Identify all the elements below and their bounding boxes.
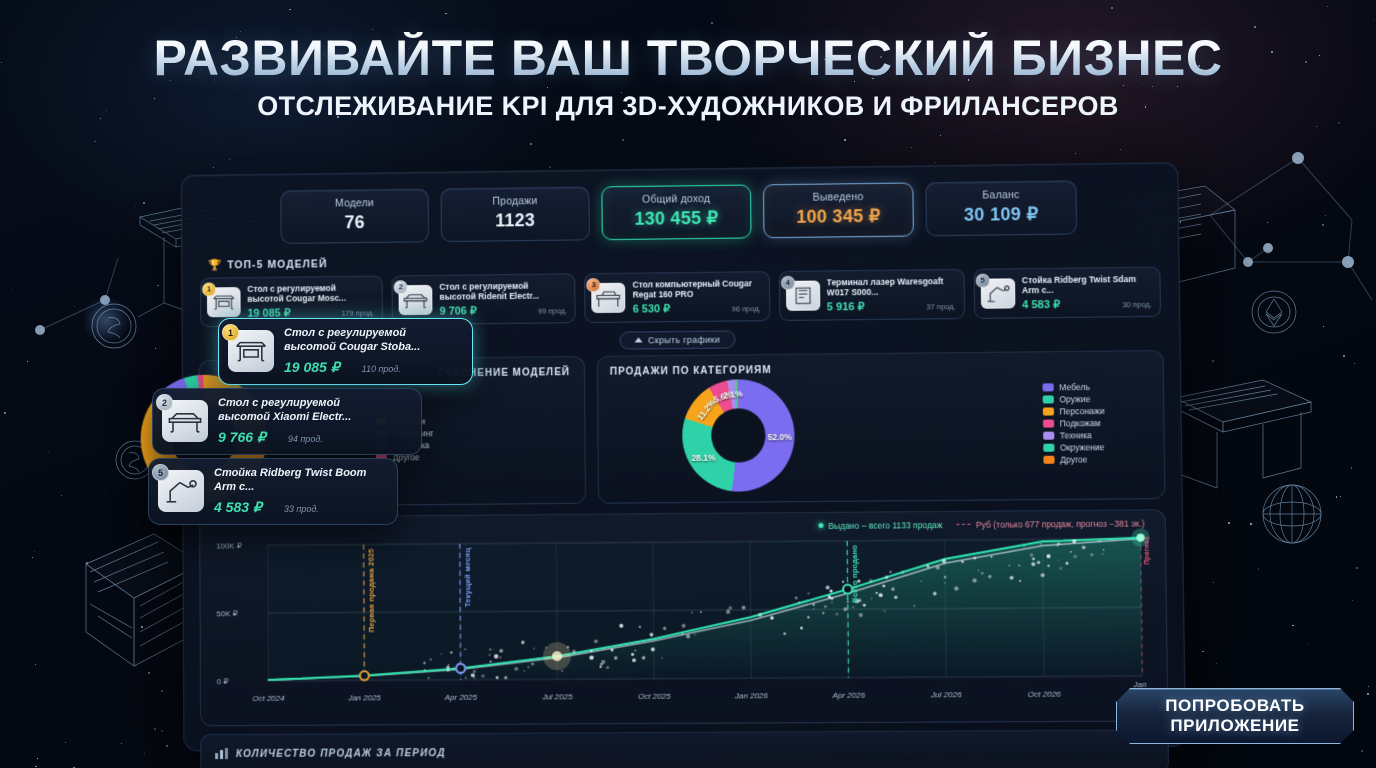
kpi-label: Выведено — [770, 191, 906, 205]
wireframe-ethereum-coin-icon — [1248, 286, 1300, 338]
model-thumbnail: 4 — [786, 280, 820, 310]
model-name: Стойка Ridberg Twist Sdam Arm с... — [1022, 274, 1152, 296]
kpi-value: 76 — [287, 212, 422, 234]
rank-badge: 1 — [202, 282, 216, 296]
model-thumbnail: 1 — [228, 330, 274, 372]
legend-label: Техника — [1060, 430, 1092, 440]
legend-swatch — [1042, 419, 1053, 427]
legend-label: Мебель — [1059, 382, 1090, 392]
cta-line-2: ПРИЛОЖЕНИЕ — [1165, 716, 1305, 736]
hide-charts-label: Скрыть графики — [648, 334, 720, 345]
bar-chart-icon — [215, 746, 228, 764]
legend-label: Другое — [1060, 454, 1087, 464]
top5-model-card[interactable]: 3Стол компьютерный Cougar Regat 160 PRO6… — [585, 271, 770, 323]
x-axis-tick: Oct 2024 — [252, 694, 284, 703]
legend-item[interactable]: Оружие — [1042, 394, 1104, 405]
model-sales-count: 99 прод. — [538, 306, 567, 315]
page-title: РАЗВИВАЙТЕ ВАШ ТВОРЧЕСКИЙ БИЗНЕС — [0, 32, 1376, 85]
model-thumbnail: 5 — [158, 470, 204, 512]
model-sales-count: 96 прод. — [732, 304, 761, 313]
kpi-card-4[interactable]: Баланс30 109 ₽ — [925, 180, 1077, 236]
top5-model-card[interactable]: 5Стойка Ridberg Twist Sdam Arm с...4 583… — [973, 267, 1161, 319]
y-axis-tick: 0 ₽ — [217, 676, 229, 685]
legend-label: Оружие — [1059, 394, 1090, 404]
model-price: 9 706 ₽ — [440, 304, 477, 317]
model-price: 4 583 ₽ — [1022, 298, 1060, 311]
period-sales-bar[interactable]: КОЛИЧЕСТВО ПРОДАЖ ЗА ПЕРИОД — [200, 729, 1169, 768]
trophy-icon: 🏆 — [208, 259, 222, 272]
hide-charts-button[interactable]: Скрыть графики — [620, 330, 735, 349]
kpi-value: 100 345 ₽ — [770, 206, 907, 229]
model-price: 6 530 ₽ — [633, 302, 671, 315]
model-price: 9 766 ₽ — [218, 429, 266, 446]
model-price: 5 916 ₽ — [827, 300, 865, 313]
legend-swatch — [1042, 407, 1053, 415]
model-thumbnail: 2 — [399, 285, 433, 315]
legend-swatch — [1043, 443, 1054, 451]
legend-label: Подкожам — [1060, 418, 1101, 428]
kpi-card-0[interactable]: Модели76 — [280, 189, 429, 244]
model-name: Терминал лазер Waresgoaft W017 S000... — [827, 276, 956, 298]
legend-swatch — [1043, 431, 1054, 439]
kpi-label: Модели — [287, 197, 421, 211]
rank-badge: 5 — [975, 273, 989, 287]
category-sales-donut[interactable]: 52.0%28.1%11.2%5.6%2.1% — [682, 379, 795, 492]
model-thumbnail: 2 — [162, 400, 208, 442]
model-sales-count: 33 прод. — [284, 504, 319, 514]
headline-block: РАЗВИВАЙТЕ ВАШ ТВОРЧЕСКИЙ БИЗНЕС ОТСЛЕЖИ… — [0, 32, 1376, 122]
rank-badge: 4 — [780, 276, 794, 290]
kpi-card-3[interactable]: Выведено100 345 ₽ — [763, 182, 914, 238]
model-price: 4 583 ₽ — [214, 499, 262, 516]
x-axis-tick: Jul 2026 — [931, 690, 962, 699]
model-thumbnail: 3 — [592, 283, 626, 313]
chart-annotation-label: Всего продано — [850, 545, 860, 603]
legend-label: Персонажи — [1059, 406, 1104, 416]
top5-heading: ТОП-5 МОДЕЛЕЙ — [227, 258, 327, 271]
kpi-label: Общий доход — [608, 193, 744, 207]
chart-annotation-label: Прогноз — [1144, 536, 1151, 564]
model-name: Стол компьютерный Cougar Regat 160 PRO — [632, 278, 760, 300]
donut-slice-label: 52.0% — [768, 432, 792, 442]
legend-swatch — [1042, 383, 1053, 391]
model-sales-count: 179 прод. — [341, 308, 374, 317]
legend-item[interactable]: Окружение — [1043, 442, 1105, 453]
line-chart-svg — [210, 528, 1157, 707]
x-axis-tick: Oct 2026 — [1028, 689, 1061, 698]
category-sales-legend: МебельОружиеПерсонажиПодкожамТехникаОкру… — [1042, 382, 1105, 465]
floating-model-card[interactable]: 2Стол с регулируемой высотой Xiaomi Elec… — [152, 388, 422, 455]
model-name: Стол с регулируемой высотой Cougar Mosc.… — [247, 283, 374, 305]
model-name: Стол с регулируемой высотой Ridenit Elec… — [439, 280, 567, 302]
legend-item[interactable]: Подкожам — [1042, 418, 1104, 429]
model-name: Стол с регулируемой высотой Cougar Stoba… — [284, 327, 454, 355]
wireframe-sphere-icon — [1258, 480, 1326, 548]
kpi-label: Продажи — [448, 195, 583, 209]
bar-chart-glyph — [215, 748, 228, 759]
y-axis-tick: 100K ₽ — [216, 541, 242, 550]
sales-line-chart-panel: Выдано – всего 1133 продажРуб (только 67… — [199, 509, 1168, 726]
legend-swatch — [1043, 455, 1054, 463]
legend-item[interactable]: Мебель — [1042, 382, 1104, 393]
x-axis-tick: Apr 2026 — [832, 690, 865, 699]
period-sales-label: КОЛИЧЕСТВО ПРОДАЖ ЗА ПЕРИОД — [236, 748, 446, 760]
screenshot-root: РАЗВИВАЙТЕ ВАШ ТВОРЧЕСКИЙ БИЗНЕС ОТСЛЕЖИ… — [0, 0, 1376, 768]
donut-slice-label: 28.1% — [691, 452, 715, 462]
kpi-row: Модели76Продажи1123Общий доход130 455 ₽В… — [198, 175, 1162, 245]
legend-item[interactable]: Персонажи — [1042, 406, 1104, 417]
model-sales-count: 30 прод. — [1122, 300, 1152, 309]
x-axis-tick: Jan 2026 — [735, 691, 768, 700]
legend-item[interactable]: Техника — [1043, 430, 1105, 441]
legend-dot — [818, 523, 823, 528]
model-name: Стол с регулируемой высотой Xiaomi Elect… — [218, 397, 388, 425]
top5-model-card[interactable]: 4Терминал лазер Waresgoaft W017 S000...5… — [778, 269, 964, 321]
donut-slice-label: 2.1% — [722, 388, 743, 401]
chart-annotation-label: Текущий месяц — [463, 547, 472, 606]
category-sales-panel: ПРОДАЖИ ПО КАТЕГОРИЯМ 52.0%28.1%11.2%5.6… — [597, 350, 1166, 504]
glow-orb — [82, 296, 130, 344]
x-axis-tick: Jan 2025 — [348, 693, 381, 702]
floating-model-card[interactable]: 1Стол с регулируемой высотой Cougar Stob… — [218, 318, 473, 385]
model-sales-count: 110 прод. — [362, 364, 401, 374]
legend-swatch — [1042, 395, 1053, 403]
chart-annotation-label: Первая продажа 2025 — [367, 548, 376, 632]
legend-item[interactable]: Другое — [1043, 454, 1105, 465]
x-axis-tick: Oct 2025 — [638, 691, 671, 700]
kpi-value: 30 109 ₽ — [933, 204, 1070, 227]
try-app-button[interactable]: ПОПРОБОВАТЬ ПРИЛОЖЕНИЕ — [1116, 688, 1354, 744]
kpi-label: Баланс — [932, 188, 1069, 202]
kpi-value: 130 455 ₽ — [609, 208, 745, 231]
model-name: Стойка Ridberg Twist Boom Arm с... — [214, 467, 383, 495]
model-thumbnail: 1 — [207, 287, 241, 317]
kpi-value: 1123 — [448, 210, 583, 233]
legend-dash — [957, 524, 971, 525]
y-axis-tick: 50K ₽ — [216, 608, 237, 617]
line-chart-plot[interactable]: 0 ₽50K ₽100K ₽Oct 2024Jan 2025Apr 2025Ju… — [210, 528, 1157, 707]
kpi-card-2[interactable]: Общий доход130 455 ₽ — [601, 185, 751, 241]
model-price: 19 085 ₽ — [284, 359, 340, 376]
category-sales-title: ПРОДАЖИ ПО КАТЕГОРИЯМ — [610, 361, 1151, 377]
page-subtitle: ОТСЛЕЖИВАНИЕ KPI ДЛЯ 3D-ХУДОЖНИКОВ И ФРИ… — [0, 91, 1376, 122]
x-axis-tick: Apr 2025 — [445, 692, 477, 701]
kpi-card-1[interactable]: Продажи1123 — [441, 187, 590, 243]
floating-model-card[interactable]: 5Стойка Ridberg Twist Boom Arm с...4 583… — [148, 458, 398, 525]
model-sales-count: 37 прод. — [926, 302, 955, 311]
model-thumbnail: 5 — [981, 278, 1016, 308]
cta-line-1: ПОПРОБОВАТЬ — [1165, 696, 1305, 716]
legend-label: Окружение — [1060, 442, 1105, 452]
dashboard-panel: Модели76Продажи1123Общий доход130 455 ₽В… — [181, 162, 1186, 751]
x-axis-tick: Jul 2025 — [542, 692, 572, 701]
donut-hole — [711, 408, 765, 462]
model-sales-count: 94 прод. — [288, 434, 323, 444]
caret-up-icon — [635, 338, 643, 343]
